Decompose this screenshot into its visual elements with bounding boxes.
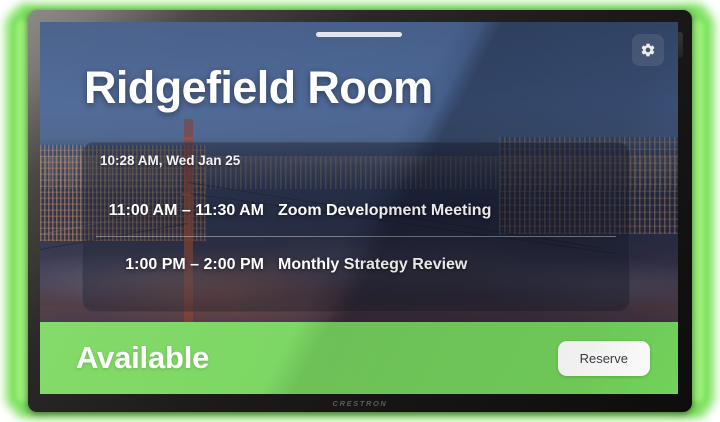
panel-screen: Ridgefield Room 10:28 AM, Wed Jan 25 11:… <box>40 22 678 394</box>
settings-button[interactable] <box>632 34 664 66</box>
meeting-title: Zoom Development Meeting <box>278 202 491 220</box>
current-time-label: 10:28 AM, Wed Jan 25 <box>100 153 240 168</box>
meeting-list-item[interactable]: 1:00 PM – 2:00 PM Monthly Strategy Revie… <box>82 238 630 291</box>
gear-icon <box>640 42 656 58</box>
availability-bar: Available Reserve <box>40 322 678 394</box>
brand-logo: CRESTRON <box>28 399 692 408</box>
meeting-title: Monthly Strategy Review <box>278 256 467 274</box>
status-pill <box>316 32 402 37</box>
reserve-button[interactable]: Reserve <box>558 341 650 376</box>
meeting-list-item[interactable]: 11:00 AM – 11:30 AM Zoom Development Mee… <box>82 184 630 237</box>
screenshot-stage: CRESTRON <box>0 0 720 422</box>
led-status-core-right <box>690 20 704 402</box>
meeting-time: 1:00 PM – 2:00 PM <box>82 256 278 274</box>
schedule-card: 10:28 AM, Wed Jan 25 11:00 AM – 11:30 AM… <box>82 142 630 312</box>
meeting-time: 11:00 AM – 11:30 AM <box>82 202 278 220</box>
page-title: Ridgefield Room <box>84 62 433 114</box>
status-badge: Available <box>76 340 209 376</box>
scheduling-panel-device: CRESTRON <box>28 10 692 412</box>
